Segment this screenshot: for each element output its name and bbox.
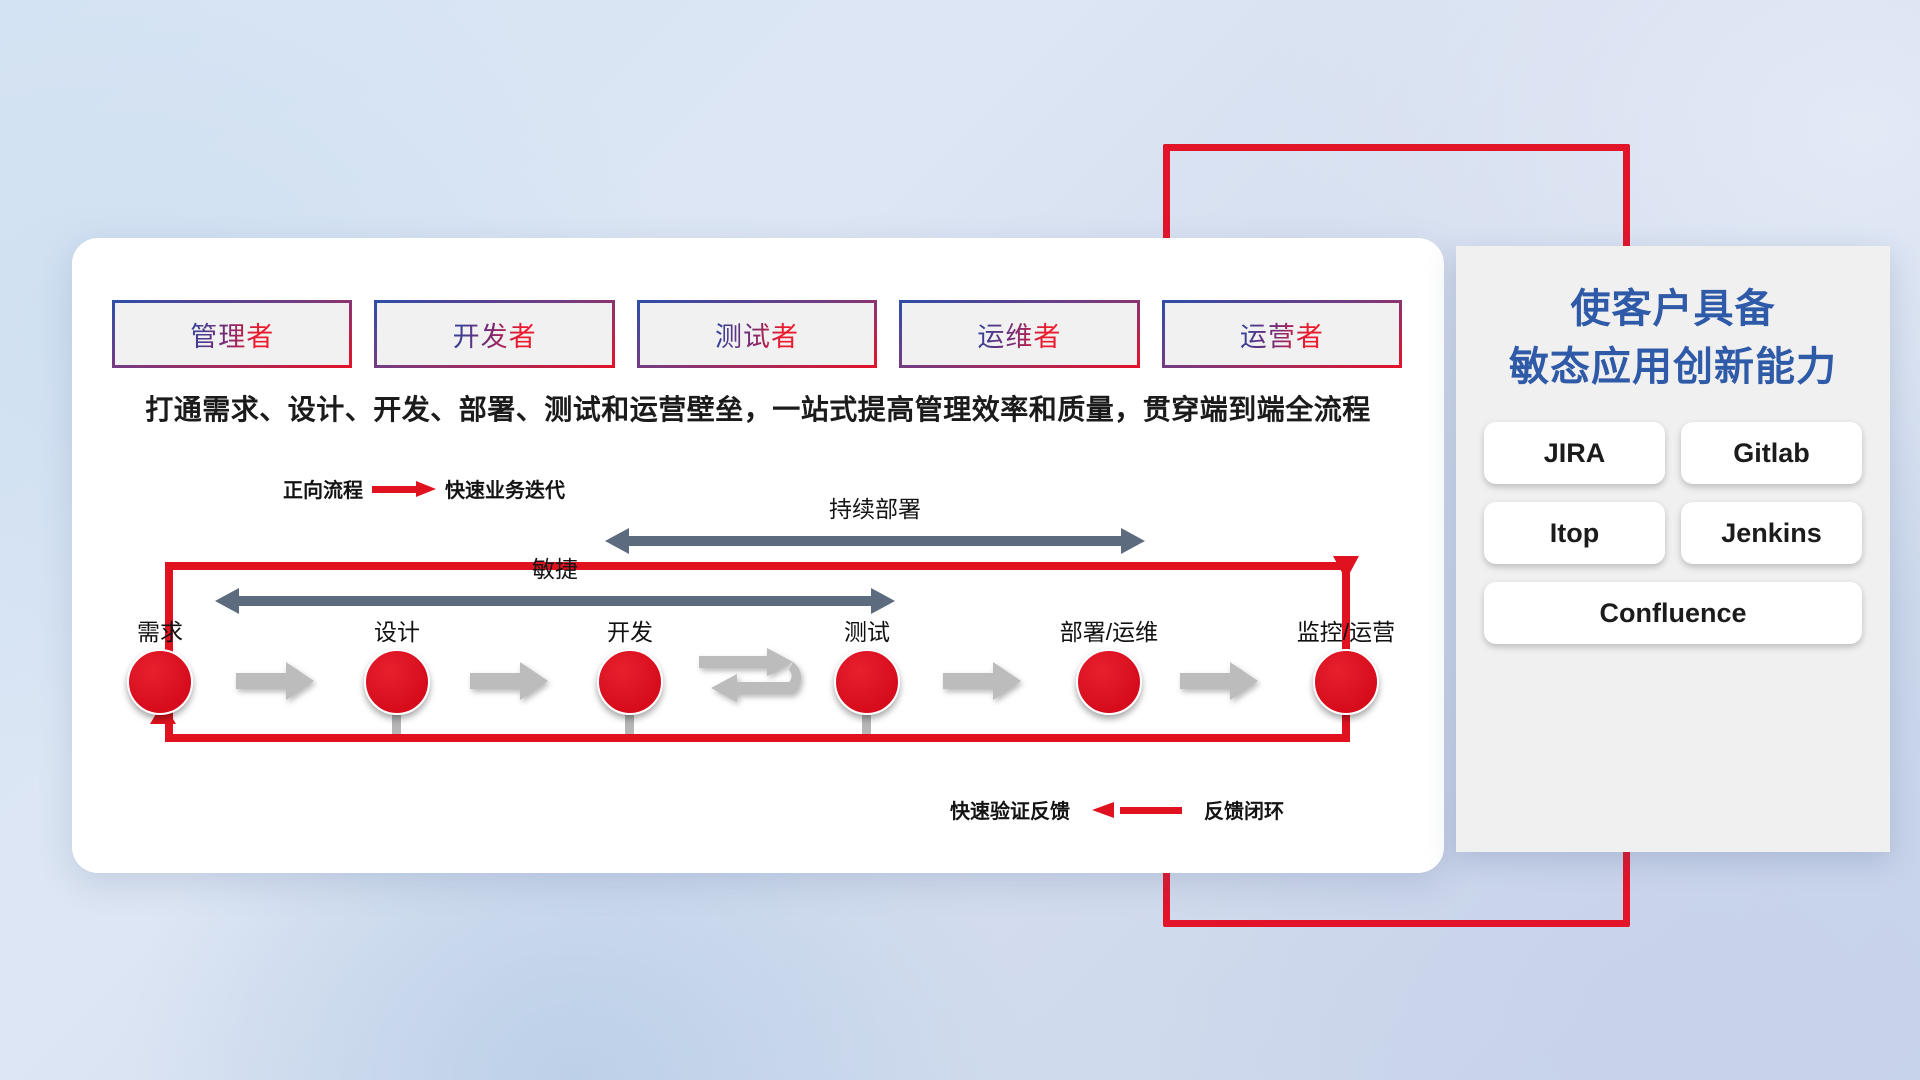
legend-feedback-loop: 快速验证反馈 反馈闭环 [950, 795, 1284, 824]
tool-chip-confluence[interactable]: Confluence [1484, 582, 1862, 644]
role-label: 开发者 [453, 315, 537, 354]
arrow-head-left-icon [215, 588, 239, 614]
stage-dot [127, 649, 193, 715]
role-box-developer[interactable]: 开发者 [374, 300, 614, 368]
legend-forward-left-label: 正向流程 [283, 474, 363, 503]
flow-arrow-req-to-design-icon [236, 662, 314, 700]
legend-feedback-right-label: 反馈闭环 [1204, 795, 1284, 824]
slide-canvas: 管理者 开发者 测试者 运维者 运营者 打通需求、设计、开发、部署、测试和运营壁… [0, 0, 1920, 1080]
panel-title-line2: 敏态应用创新能力 [1484, 338, 1862, 396]
stage-label: 部署/运维 [1029, 613, 1189, 647]
panel-title-line1: 使客户具备 [1571, 287, 1776, 331]
arrow-shaft [237, 596, 873, 606]
headline-text: 打通需求、设计、开发、部署、测试和运营壁垒，一站式提高管理效率和质量，贯穿端到端… [72, 388, 1444, 428]
tool-chip-jira[interactable]: JIRA [1484, 422, 1665, 484]
stage-label: 测试 [787, 613, 947, 647]
arrow-right-red-icon [372, 481, 436, 497]
stage-dot [1313, 649, 1379, 715]
flow-arrow-design-to-dev-icon [470, 662, 548, 700]
stage-node-requirement[interactable]: 需求 [80, 613, 240, 715]
role-box-manager[interactable]: 管理者 [112, 300, 352, 368]
tool-chip-jenkins[interactable]: Jenkins [1681, 502, 1862, 564]
span-agile-label: 敏捷 [215, 550, 895, 584]
flow-arrow-test-to-deploy-icon [943, 662, 1021, 700]
role-box-tester[interactable]: 测试者 [637, 300, 877, 368]
legend-feedback-left-label: 快速验证反馈 [950, 795, 1070, 824]
stage-dot [364, 649, 430, 715]
panel-title: 使客户具备 敏态应用创新能力 [1484, 280, 1862, 396]
stage-dot [597, 649, 663, 715]
stage-node-develop[interactable]: 开发 [550, 613, 710, 715]
stage-node-deploy-ops[interactable]: 部署/运维 [1029, 613, 1189, 715]
legend-forward-flow: 正向流程 快速业务迭代 [283, 474, 565, 503]
value-panel: 使客户具备 敏态应用创新能力 JIRA Gitlab Itop Jenkins … [1456, 246, 1890, 852]
loop-arrow-down-icon [1333, 556, 1359, 580]
role-label: 测试者 [715, 315, 799, 354]
tool-list: JIRA Gitlab Itop Jenkins Confluence [1484, 422, 1862, 644]
arrow-head-right-icon [1121, 528, 1145, 554]
role-box-ops[interactable]: 运维者 [899, 300, 1139, 368]
stage-dot [1076, 649, 1142, 715]
stage-node-monitor-operate[interactable]: 监控/运营 [1266, 613, 1426, 715]
stage-label: 开发 [550, 613, 710, 647]
feedback-loop-bottom [165, 734, 1350, 742]
role-label: 管理者 [190, 315, 274, 354]
stage-node-test[interactable]: 测试 [787, 613, 947, 715]
arrow-head-right-icon [871, 588, 895, 614]
role-box-operations[interactable]: 运营者 [1162, 300, 1402, 368]
arrow-left-red-icon [1092, 802, 1182, 818]
stage-dot [834, 649, 900, 715]
stage-node-design[interactable]: 设计 [317, 613, 477, 715]
role-boxes: 管理者 开发者 测试者 运维者 运营者 [112, 300, 1402, 368]
stage-label: 设计 [317, 613, 477, 647]
arrow-shaft [627, 536, 1123, 546]
stage-label: 监控/运营 [1266, 613, 1426, 647]
span-continuous-deploy-label: 持续部署 [605, 490, 1145, 524]
stage-label: 需求 [80, 613, 240, 647]
legend-forward-right-label: 快速业务迭代 [445, 474, 565, 503]
tool-chip-gitlab[interactable]: Gitlab [1681, 422, 1862, 484]
tool-chip-itop[interactable]: Itop [1484, 502, 1665, 564]
flow-arrow-deploy-to-monitor-icon [1180, 662, 1258, 700]
role-label: 运维者 [977, 315, 1061, 354]
role-label: 运营者 [1240, 315, 1324, 354]
span-agile: 敏捷 [215, 588, 895, 614]
